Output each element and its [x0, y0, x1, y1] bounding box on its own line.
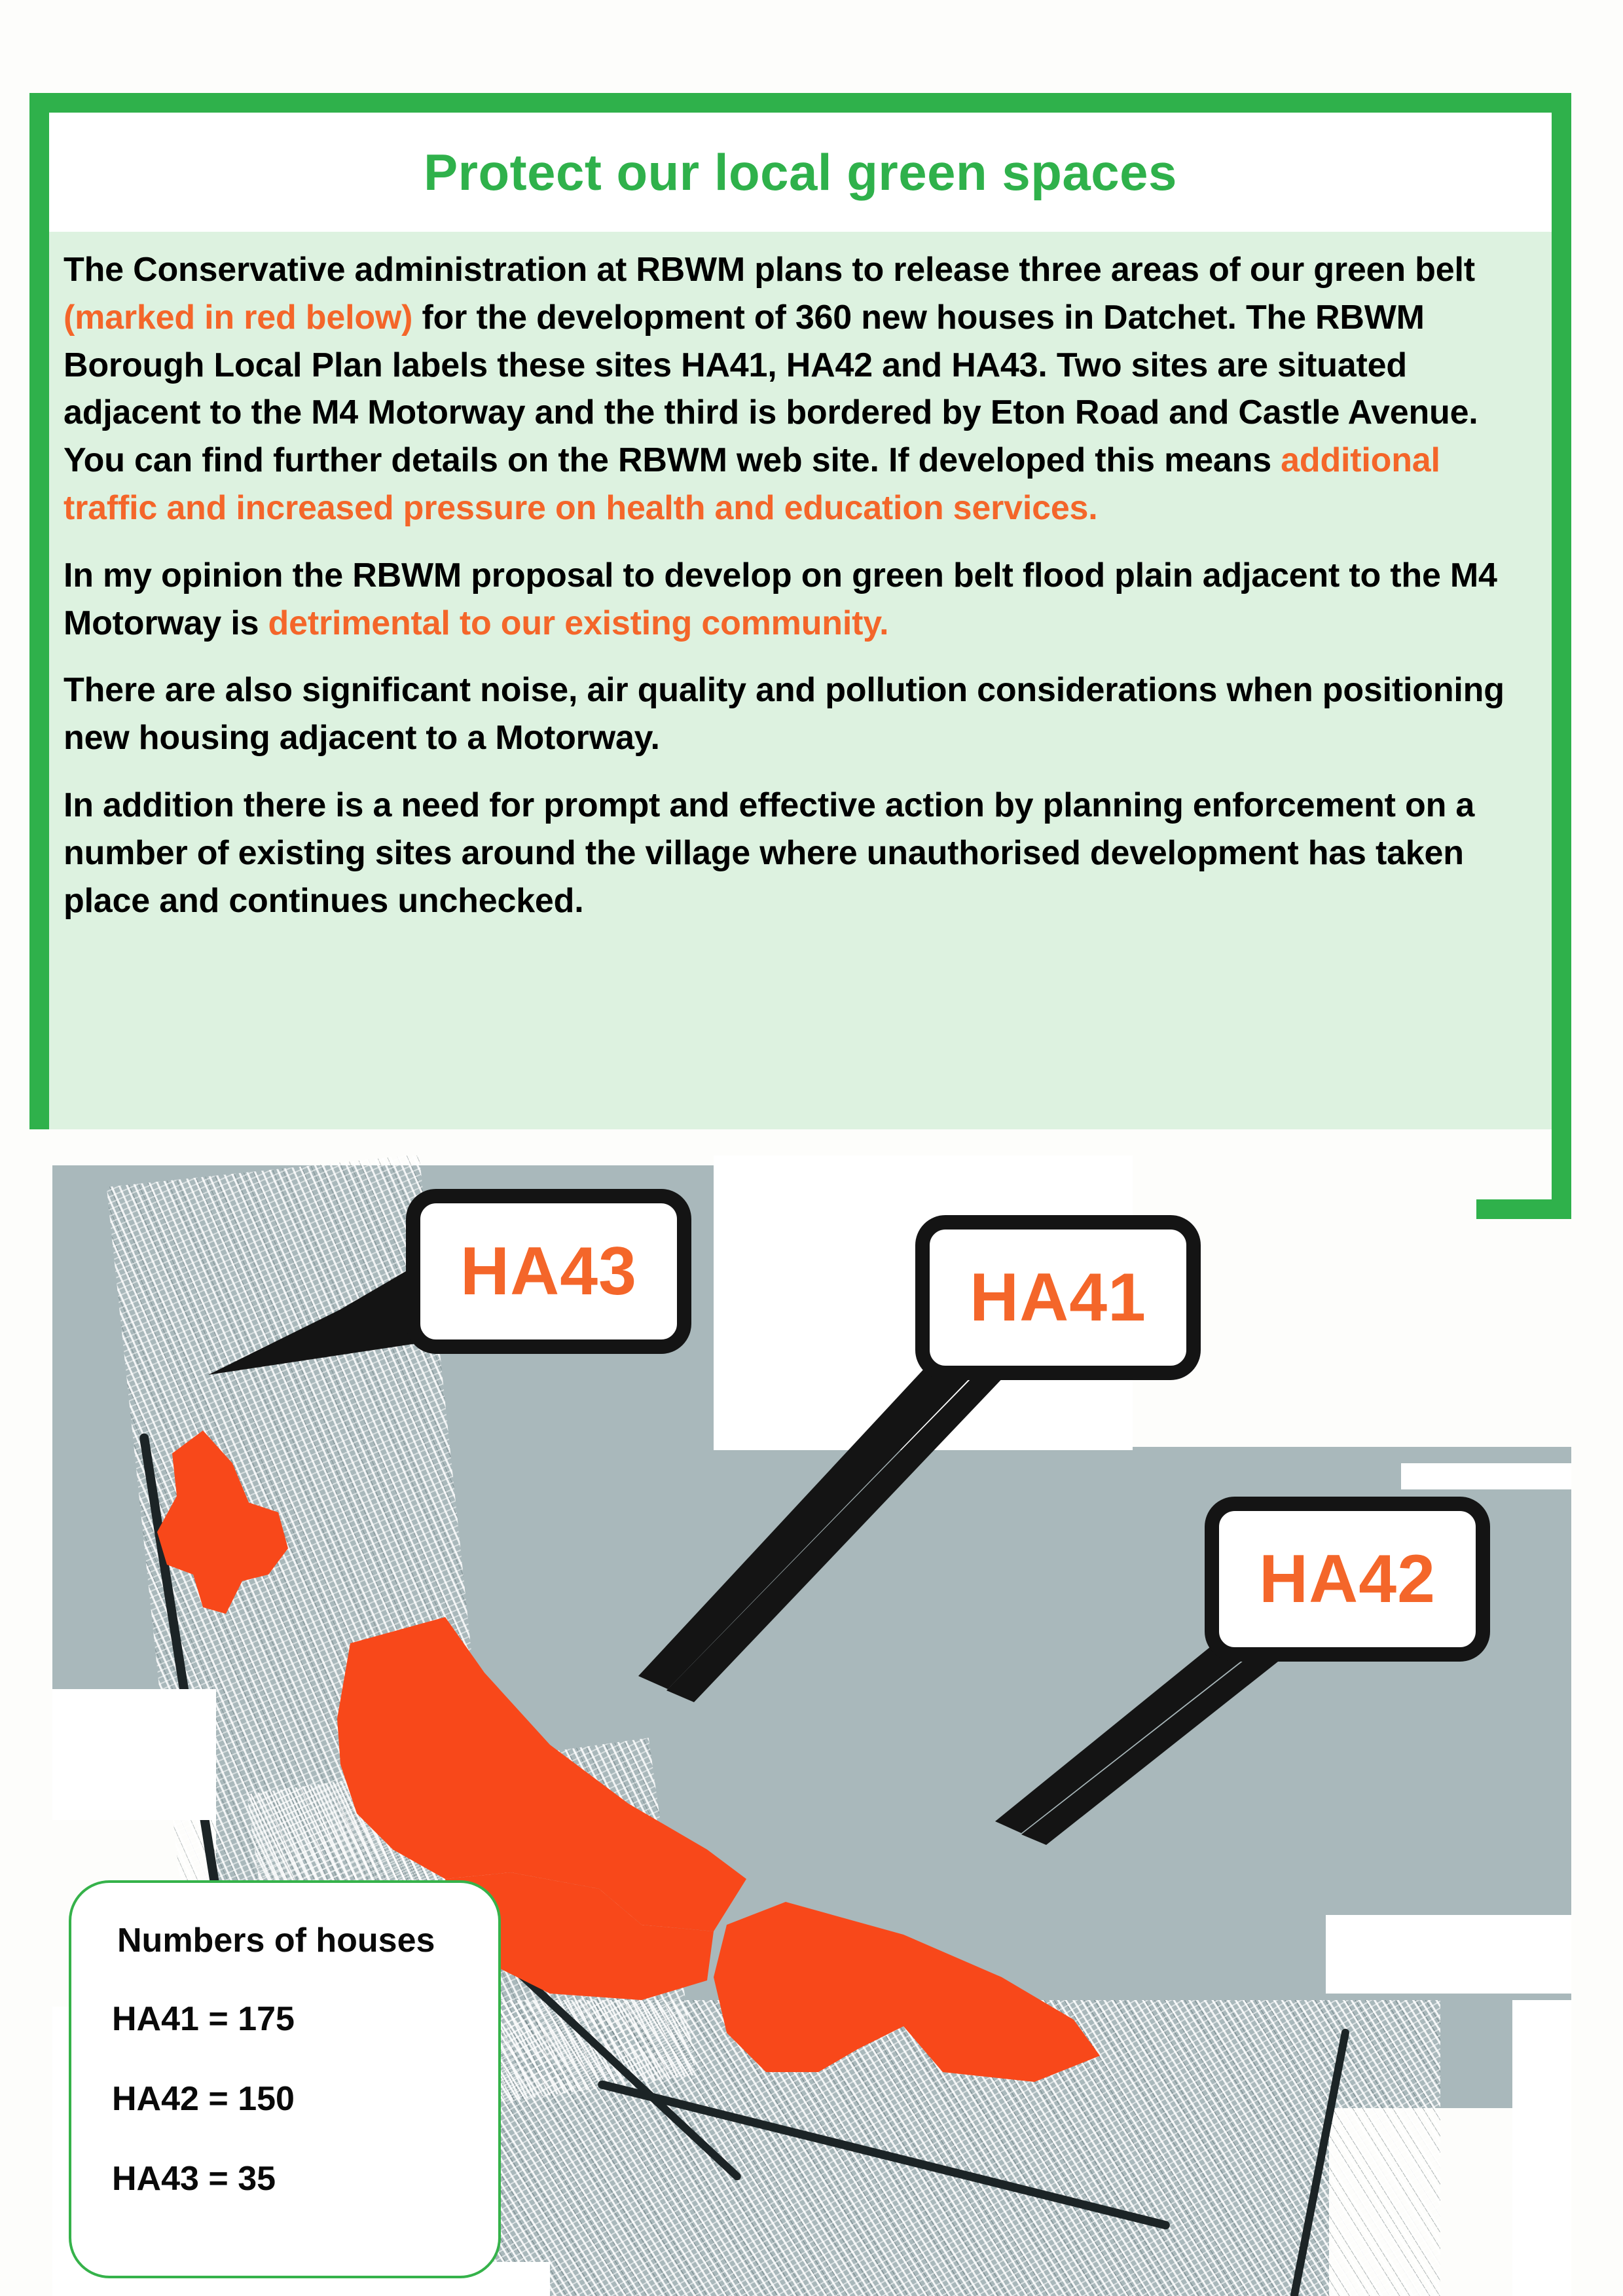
paragraph-4: In addition there is a need for prompt a… — [64, 782, 1537, 924]
callout-ha42[interactable]: HA42 — [1205, 1497, 1490, 1662]
title-band: Protect our local green spaces — [49, 113, 1552, 232]
frame-top-bar — [29, 93, 1571, 113]
callout-ha43[interactable]: HA43 — [406, 1189, 691, 1354]
page-title: Protect our local green spaces — [424, 143, 1177, 202]
paragraph-3: There are also significant noise, air qu… — [64, 666, 1537, 762]
legend-row-ha43: HA43 = 35 — [112, 2159, 498, 2198]
plot-ha42-shape — [714, 1902, 1100, 2082]
legend-box: Numbers of houses HA41 = 175 HA42 = 150 … — [69, 1880, 501, 2278]
plot-ha43-shape — [157, 1430, 288, 1614]
highlighted-text-run: (marked in red below) — [64, 299, 412, 337]
legend-row-ha41: HA41 = 175 — [112, 1999, 498, 2039]
callout-ha41[interactable]: HA41 — [915, 1215, 1201, 1380]
callout-ha41-label: HA41 — [970, 1264, 1146, 1332]
frame-right-bar — [1552, 93, 1571, 1219]
callout-ha43-label: HA43 — [460, 1237, 637, 1305]
text-run: There are also significant noise, air qu… — [64, 671, 1504, 757]
text-run: In addition there is a need for prompt a… — [64, 786, 1474, 920]
text-run: The Conservative administration at RBWM … — [64, 251, 1475, 289]
legend-row-ha42: HA42 = 150 — [112, 2079, 498, 2119]
highlighted-text-run: detrimental to our existing community. — [268, 604, 889, 642]
paragraph-2: In my opinion the RBWM proposal to devel… — [64, 552, 1537, 647]
legend-title: Numbers of houses — [117, 1921, 498, 1960]
body-text-panel: The Conservative administration at RBWM … — [49, 232, 1552, 1129]
callout-ha42-label: HA42 — [1259, 1545, 1436, 1613]
frame-left-bar — [29, 93, 49, 1129]
paragraph-1: The Conservative administration at RBWM … — [64, 246, 1537, 532]
